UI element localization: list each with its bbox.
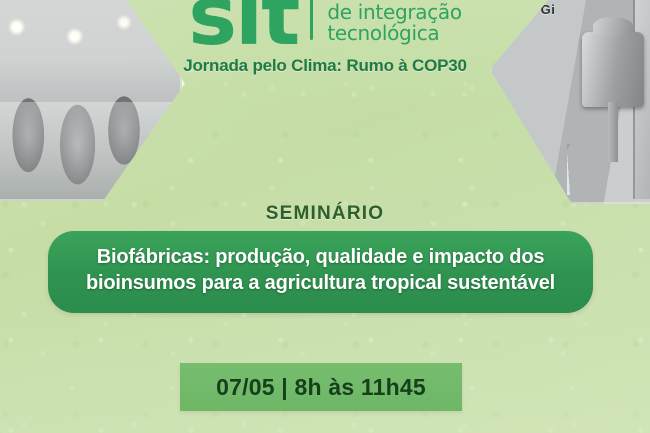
sit-logo: sit semana de integração tecnológica (188, 0, 462, 50)
logo-divider (310, 0, 313, 40)
seminar-title: Biofábricas: produção, qualidade e impac… (74, 244, 567, 297)
date-time-banner: 07/05 | 8h às 11h45 (180, 363, 462, 411)
sit-logo-mark: sit (188, 0, 298, 50)
logo-word-line2: de integração (327, 2, 462, 23)
event-tagline: Jornada pelo Clima: Rumo à COP30 (183, 56, 467, 76)
sit-logo-wordmark: semana de integração tecnológica (327, 0, 462, 50)
seminar-label: SEMINÁRIO (0, 203, 650, 225)
floor-reflection (0, 102, 182, 201)
equipment-piping (567, 144, 650, 195)
event-poster: MAR Gi sit semana de integração tecnológ… (0, 0, 650, 433)
equipment-shaft (608, 102, 618, 162)
seminar-title-box: Biofábricas: produção, qualidade e impac… (48, 231, 593, 313)
date-time-text: 07/05 | 8h às 11h45 (216, 374, 426, 401)
poster-header: sit semana de integração tecnológica Jor… (0, 0, 650, 96)
logo-word-line3: tecnológica (327, 23, 462, 44)
